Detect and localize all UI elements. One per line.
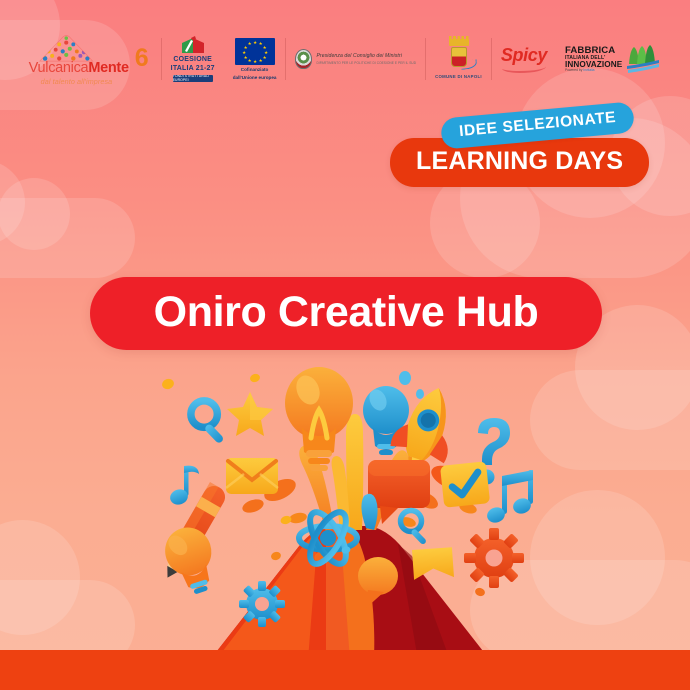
star-icon <box>227 392 273 436</box>
droplet-small-blue-icon <box>399 371 411 385</box>
spicy-swoosh-icon <box>502 62 546 73</box>
coesione-line2: ITALIA 21-27 <box>171 65 215 73</box>
cloud-decoration-bottom-left <box>0 520 140 670</box>
coesione-bar-text: FONDI STRUTTURALI EUROPEI <box>173 75 213 82</box>
republic-emblem-icon <box>295 49 312 69</box>
checkmark-icon <box>440 461 490 508</box>
vm-word-part2: Mente <box>88 60 128 76</box>
envelope-icon <box>226 458 278 494</box>
eu-caption-line1: Cofinanziato <box>241 67 269 73</box>
magnifier-small-icon <box>401 511 428 546</box>
eu-flag-icon: ★ ★ ★ ★ ★ ★ ★ ★ ★ ★ ★ ★ <box>235 38 275 65</box>
logo-european-union: ★ ★ ★ ★ ★ ★ ★ ★ ★ ★ ★ ★ Cofinanziato dal… <box>224 31 286 87</box>
badge-learning-days: LEARNING DAYS <box>390 138 649 187</box>
logo-vulcanicamente: VulcanicaMente 6 dal talento all'impresa <box>20 31 161 87</box>
coesione-mark-icon <box>180 36 206 55</box>
bookmark-icon <box>412 547 454 580</box>
gear-orange-icon <box>464 528 524 588</box>
volcano-creativity-illustration <box>150 360 550 660</box>
title-pill: Oniro Creative Hub <box>90 277 602 350</box>
droplet-blue-small-icon <box>361 494 377 530</box>
napoli-crest-icon <box>443 39 475 73</box>
coesione-line1: COESIONE <box>173 56 212 64</box>
dot-accent-icon <box>161 377 176 391</box>
page-title: Oniro Creative Hub <box>154 291 539 337</box>
partner-logo-strip: VulcanicaMente 6 dal talento all'impresa… <box>0 28 690 90</box>
magnifier-icon <box>191 401 225 444</box>
fabbrica-line4-b: Invitalia <box>583 68 594 72</box>
lightbulb-small-icon <box>159 521 223 599</box>
spicy-wordmark: Spicy <box>501 46 547 64</box>
music-note-small-icon <box>168 466 199 507</box>
gear-blue-icon <box>239 581 285 627</box>
artwork-svg <box>150 360 550 660</box>
logo-presidenza-consiglio: Presidenza del Consiglio dei Ministri DI… <box>286 31 425 87</box>
fabbrica-leaves-icon <box>625 44 661 74</box>
cloud-decoration-left <box>0 148 140 278</box>
bottom-color-bar <box>0 650 690 690</box>
presidenza-line2: DIPARTIMENTO PER LE POLITICHE DI COESION… <box>316 61 416 65</box>
presidenza-line1: Presidenza del Consiglio dei Ministri <box>316 53 416 59</box>
logo-fabbrica-innovazione: FABBRICA ITALIANA DELL' INNOVAZIONE Powe… <box>556 31 670 87</box>
logo-spicy: Spicy <box>492 31 556 87</box>
poster-canvas: VulcanicaMente 6 dal talento all'impresa… <box>0 0 690 690</box>
vulcanicamente-volcano-icon <box>31 32 135 62</box>
napoli-caption: COMUNE DI NAPOLI <box>435 74 482 79</box>
vulcanicamente-wordmark: VulcanicaMente <box>29 61 147 76</box>
fabbrica-line4-a: Powered by <box>565 68 583 72</box>
vm-word-part1: Vulcanica <box>29 60 89 76</box>
vulcanicamente-edition: 6 <box>135 46 149 71</box>
vulcanicamente-tagline: dal talento all'impresa <box>41 77 113 86</box>
lightbulb-icon <box>285 367 353 471</box>
eu-caption-line2: dall'Unione europea <box>233 75 277 81</box>
logo-coesione-italia: COESIONE ITALIA 21-27 FONDI STRUTTURALI … <box>162 31 224 87</box>
logo-comune-di-napoli: COMUNE DI NAPOLI <box>426 31 491 87</box>
